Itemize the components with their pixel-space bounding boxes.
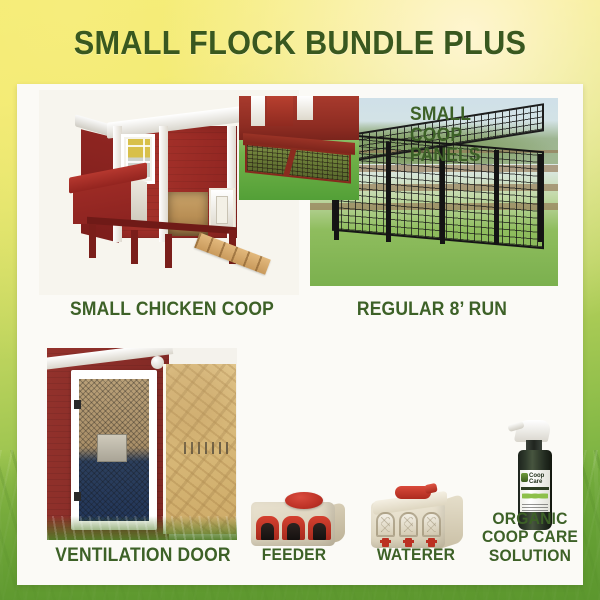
- coop-leg: [165, 234, 172, 268]
- spray-label-brand-line2: Care: [529, 479, 542, 485]
- panels-red-post: [267, 96, 293, 126]
- small-coop-panels-image: [239, 96, 359, 200]
- vent-screen-door-frame: [71, 370, 157, 530]
- label-ventilation-door: VENTILATION DOOR: [44, 546, 243, 567]
- feeder-port: [282, 516, 305, 540]
- coop-leg: [89, 224, 96, 258]
- label-small-coop-panels: SMALL COOP PANELS: [410, 105, 520, 167]
- coop-nesting-box-side: [131, 178, 147, 226]
- waterer-panel: [422, 512, 441, 537]
- label-feeder: FEEDER: [243, 546, 344, 564]
- spray-bottle-label: CoopCare: [520, 470, 550, 512]
- product-card: SMALL CHICKEN COOP REGULAR 8’ RUN: [17, 84, 583, 585]
- page-title: SMALL FLOCK BUNDLE PLUS: [21, 24, 579, 62]
- feeder-port: [256, 516, 279, 540]
- spray-label-leaf-dots: [522, 492, 548, 500]
- spray-label-subtitle-bar: [521, 487, 549, 490]
- feeder-lid: [285, 492, 323, 509]
- feeder-port: [308, 516, 331, 540]
- vent-grass: [47, 516, 237, 540]
- coop-leg: [131, 230, 138, 264]
- run-post: [386, 142, 391, 242]
- waterer-panel: [376, 512, 395, 537]
- waterer-panel: [399, 512, 418, 537]
- run-post: [538, 154, 543, 242]
- spray-label-brand-line1: Coop: [529, 473, 544, 479]
- vent-open-wood-door: [163, 364, 236, 534]
- spray-label-brand: CoopCare: [529, 473, 549, 485]
- vent-hinge: [74, 400, 81, 409]
- label-waterer: WATERER: [362, 546, 471, 564]
- leaf-icon: [521, 473, 528, 482]
- vent-interior-panel: [97, 434, 127, 462]
- vent-hinge: [74, 492, 81, 501]
- label-organic-coop-care-solution: ORGANIC COOP CARE SOLUTION: [476, 510, 585, 565]
- vent-door-stamp: [184, 442, 228, 454]
- label-small-chicken-coop: SMALL CHICKEN COOP: [57, 300, 287, 321]
- ventilation-door-image: [47, 348, 237, 540]
- waterer-image: [369, 484, 465, 550]
- label-regular-8-run: REGULAR 8’ RUN: [317, 300, 547, 321]
- panels-white-trim: [297, 96, 313, 120]
- panels-white-trim: [251, 96, 265, 126]
- bundle-poster: SMALL FLOCK BUNDLE PLUS: [0, 0, 600, 600]
- feeder-image: [249, 488, 345, 550]
